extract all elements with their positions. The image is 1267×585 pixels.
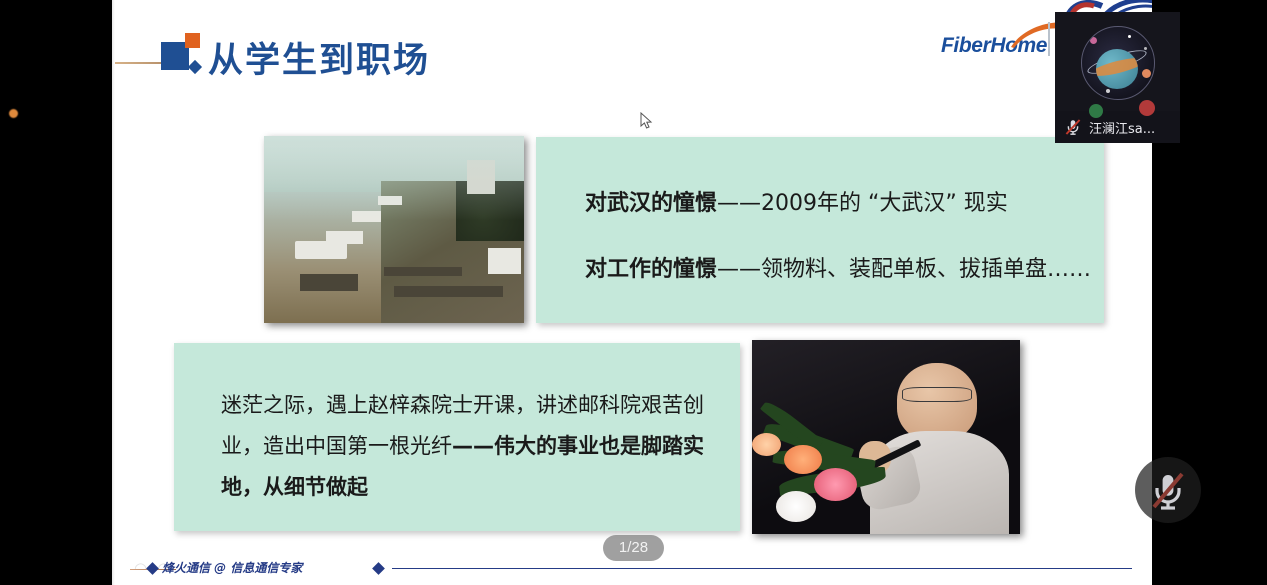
aspiration-line-2-bold: 对工作的憧憬 bbox=[585, 257, 717, 282]
fiberhome-logo: FiberHome bbox=[941, 22, 1071, 62]
ambient-orange-dot bbox=[9, 109, 18, 118]
participant-name-bar: 汪澜江sa... bbox=[1055, 111, 1180, 143]
academician-photo bbox=[752, 340, 1020, 534]
aspiration-line-2: 对工作的憧憬——领物料、装配单板、拔插单盘…… bbox=[585, 251, 1091, 283]
mic-muted-icon bbox=[1063, 117, 1083, 137]
mic-toggle-button[interactable] bbox=[1135, 457, 1201, 523]
participant-video-tile[interactable]: 汪澜江sa... bbox=[1055, 12, 1180, 143]
footer-text: 烽火通信 @ 信息通信专家 bbox=[162, 559, 302, 576]
footer-diamond-right-icon bbox=[372, 562, 385, 575]
story-text-box: 迷茫之际，遇上赵梓森院士开课，讲述邮科院艰苦创业，造出中国第一根光纤——伟大的事… bbox=[174, 343, 740, 531]
aspiration-line-1-rest: ——2009年的 “大武汉” 现实 bbox=[717, 191, 1008, 216]
page-indicator[interactable]: 1/28 bbox=[603, 535, 664, 561]
participant-name: 汪澜江sa... bbox=[1089, 118, 1155, 137]
page-title: 从学生到职场 bbox=[208, 32, 430, 83]
mic-muted-icon bbox=[1135, 457, 1201, 523]
shared-screen-viewport: 从学生到职场 FiberHome bbox=[0, 0, 1267, 585]
footer-rule-right bbox=[392, 568, 1132, 569]
aspiration-text-box: 对武汉的憧憬——2009年的 “大武汉” 现实 对工作的憧憬——领物料、装配单板… bbox=[536, 137, 1104, 323]
wuhan-riverside-photo bbox=[264, 136, 524, 323]
presentation-slide: 从学生到职场 FiberHome bbox=[112, 0, 1152, 585]
avatar bbox=[1081, 26, 1155, 100]
aspiration-line-2-rest: ——领物料、装配单板、拔插单盘…… bbox=[717, 257, 1091, 282]
logo-divider bbox=[1048, 22, 1050, 56]
aspiration-line-1: 对武汉的憧憬——2009年的 “大武汉” 现实 bbox=[585, 185, 1008, 217]
arrow-cursor bbox=[640, 112, 654, 130]
aspiration-line-1-bold: 对武汉的憧憬 bbox=[585, 191, 717, 216]
title-orange-square-icon bbox=[185, 33, 200, 48]
story-paragraph: 迷茫之际，遇上赵梓森院士开课，讲述邮科院艰苦创业，造出中国第一根光纤——伟大的事… bbox=[221, 385, 713, 508]
title-diamond-mark-icon bbox=[188, 60, 202, 74]
